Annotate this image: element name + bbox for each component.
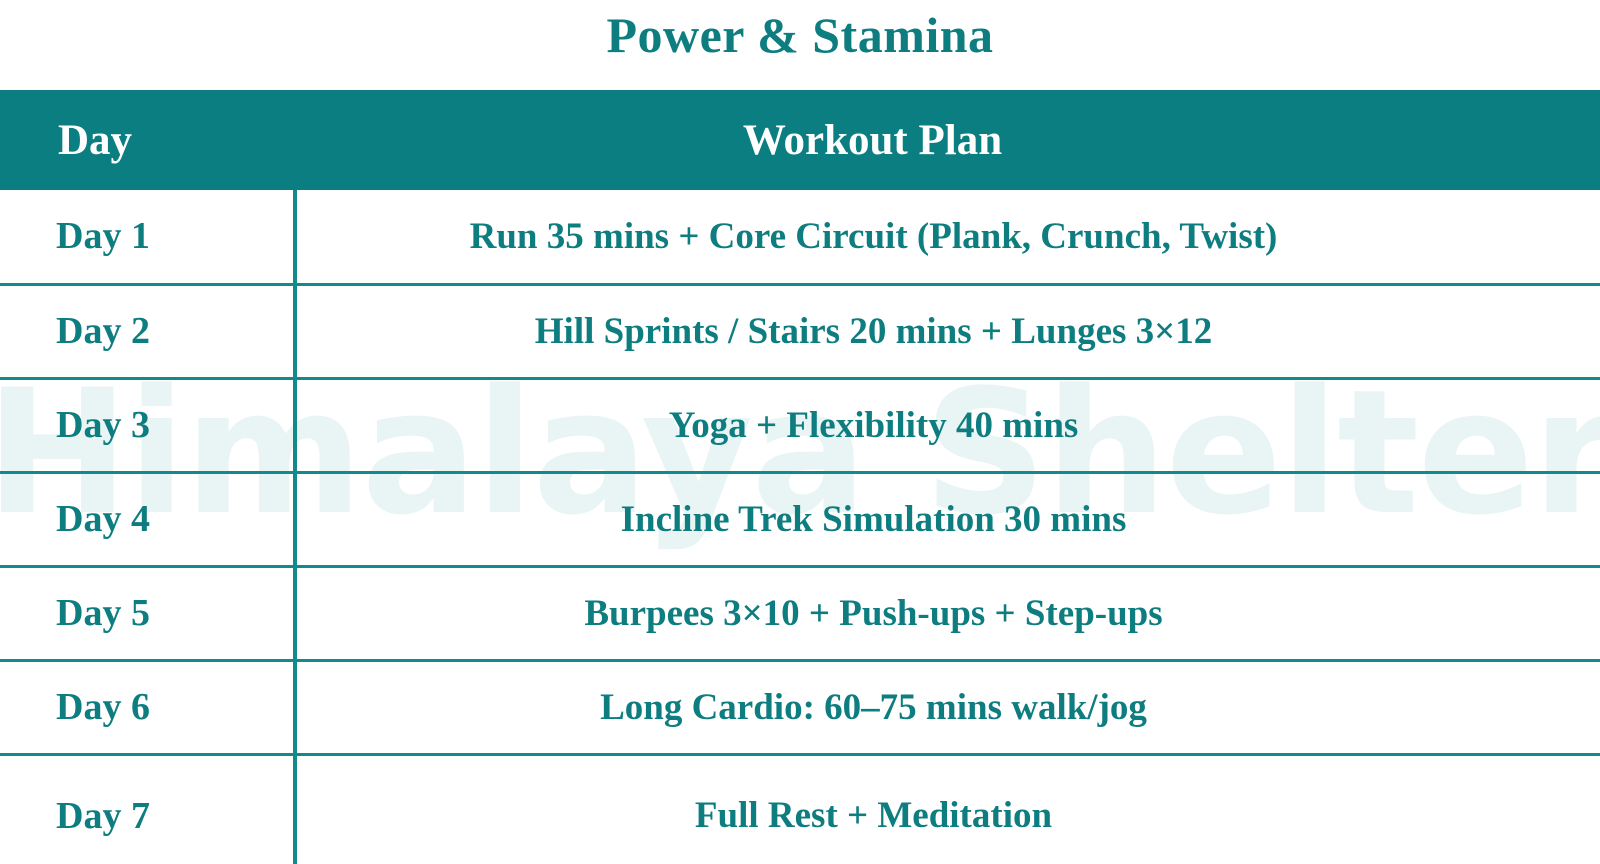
table-row: Day 7 Full Rest + Meditation <box>0 754 1600 864</box>
table-row: Day 3 Yoga + Flexibility 40 mins <box>0 378 1600 472</box>
table-header: Day Workout Plan <box>0 90 1600 190</box>
cell-day: Day 5 <box>0 566 295 660</box>
cell-day: Day 2 <box>0 284 295 378</box>
column-header-day: Day <box>0 90 295 190</box>
table-row: Day 6 Long Cardio: 60–75 mins walk/jog <box>0 660 1600 754</box>
table-row: Day 2 Hill Sprints / Stairs 20 mins + Lu… <box>0 284 1600 378</box>
cell-day: Day 7 <box>0 754 295 864</box>
cell-day: Day 1 <box>0 190 295 284</box>
workout-plan-table: Day Workout Plan Day 1 Run 35 mins + Cor… <box>0 90 1600 864</box>
column-header-workout-plan: Workout Plan <box>295 90 1600 190</box>
workout-plan-table-wrapper: Day Workout Plan Day 1 Run 35 mins + Cor… <box>0 90 1600 864</box>
cell-workout-plan: Burpees 3×10 + Push-ups + Step-ups <box>295 566 1600 660</box>
cell-workout-plan: Long Cardio: 60–75 mins walk/jog <box>295 660 1600 754</box>
cell-workout-plan: Hill Sprints / Stairs 20 mins + Lunges 3… <box>295 284 1600 378</box>
table-body: Day 1 Run 35 mins + Core Circuit (Plank,… <box>0 190 1600 864</box>
table-row: Day 4 Incline Trek Simulation 30 mins <box>0 472 1600 566</box>
cell-workout-plan: Run 35 mins + Core Circuit (Plank, Crunc… <box>295 190 1600 284</box>
cell-day: Day 4 <box>0 472 295 566</box>
table-row: Day 5 Burpees 3×10 + Push-ups + Step-ups <box>0 566 1600 660</box>
page-title: Power & Stamina <box>0 6 1600 64</box>
cell-day: Day 6 <box>0 660 295 754</box>
cell-day: Day 3 <box>0 378 295 472</box>
table-header-row: Day Workout Plan <box>0 90 1600 190</box>
cell-workout-plan: Incline Trek Simulation 30 mins <box>295 472 1600 566</box>
workout-plan-page: Himalaya Shelter Power & Stamina Day Wor… <box>0 0 1600 864</box>
cell-workout-plan: Full Rest + Meditation <box>295 754 1600 864</box>
cell-workout-plan: Yoga + Flexibility 40 mins <box>295 378 1600 472</box>
table-row: Day 1 Run 35 mins + Core Circuit (Plank,… <box>0 190 1600 284</box>
